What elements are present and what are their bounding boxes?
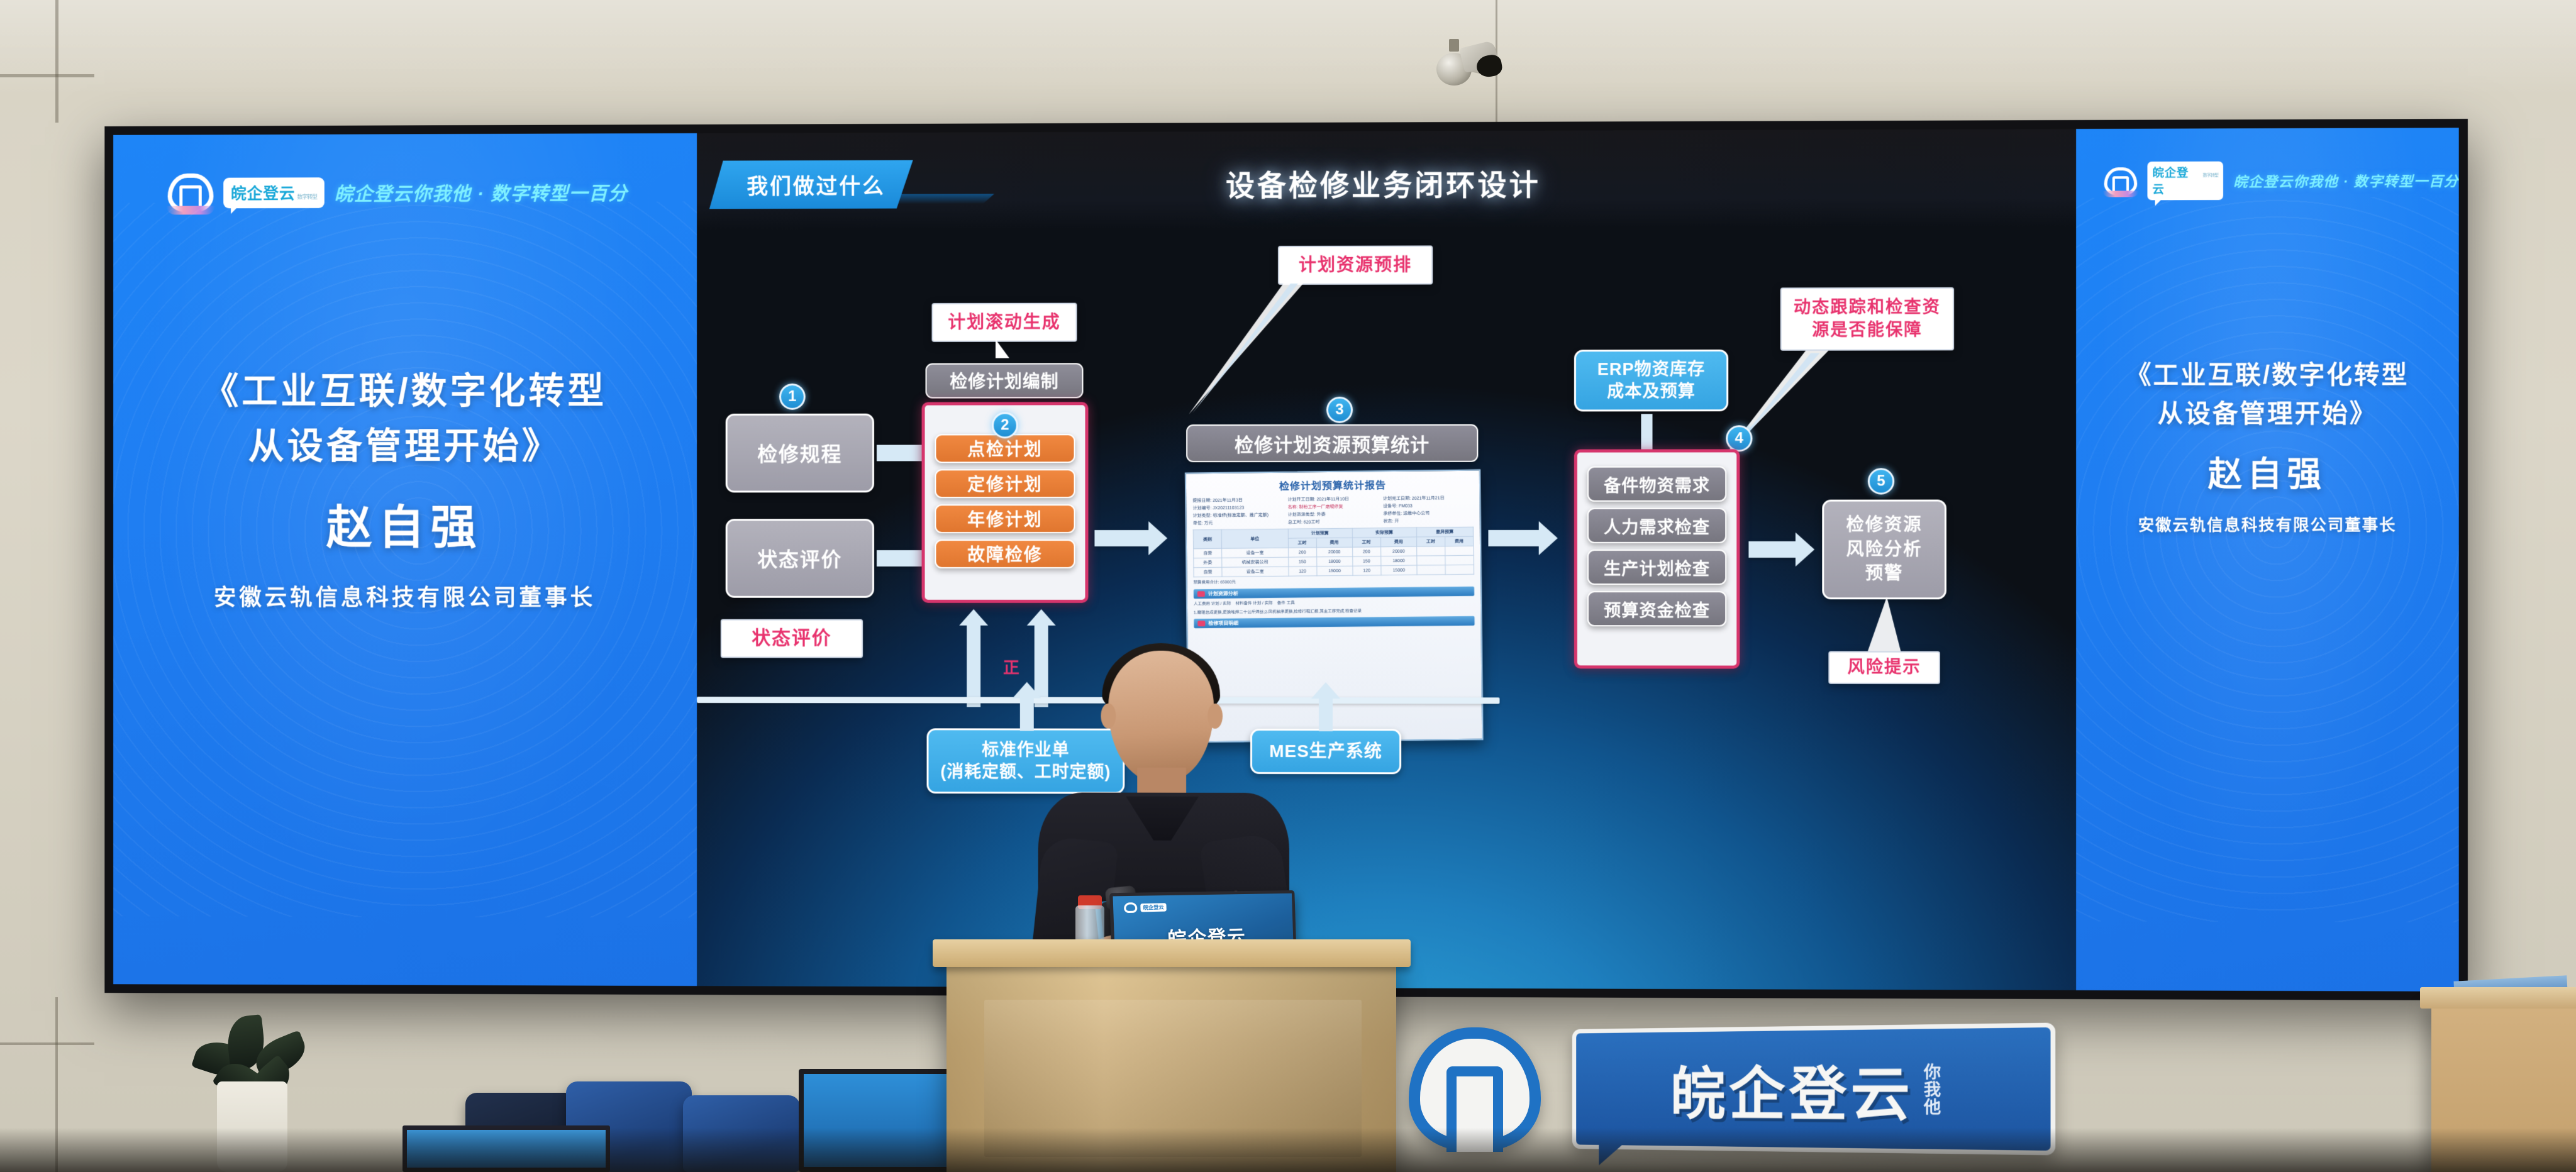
arrow-standard-work-to-plans (967, 626, 980, 707)
side-table-top (2420, 987, 2576, 1009)
wall-tile-seam (0, 74, 94, 77)
cell-value (1445, 565, 1474, 574)
presenter-head (1108, 651, 1214, 782)
step-badge-1: 1 (779, 384, 806, 410)
cell-name: 设备一室 (1222, 548, 1288, 558)
table-row: 自营 设备二室 120 15000 120 15000 (1194, 565, 1474, 577)
speaker-name: 赵自强 (113, 490, 697, 558)
step-badge-2: 2 (992, 412, 1018, 438)
brand-tagline: 皖企登云你我他 · 数字转型一百分 (335, 178, 628, 206)
presentation-slide: 我们做过什么 设备检修业务闭环设计 1 检修规程 状态评价 状态评价 计划滚动生… (697, 129, 2076, 990)
report-meta-item: 计划资源类型: 外委 (1288, 511, 1379, 518)
callout-risk-tip: 风险提示 (1828, 651, 1940, 684)
arrow-checks-to-risk (1748, 541, 1796, 558)
report-total: 预算费用合计: 65000元 (1194, 577, 1474, 586)
cell-name: 机械安装公司 (1222, 557, 1288, 567)
cell-name: 设备二室 (1222, 567, 1288, 577)
presentation-title-line1: 《工业互联/数字化转型 (113, 363, 697, 419)
report-section-2-note: 1.磨辊总成更换,更换堆焊二十公斤焊丝;2.风机轴承更换,检修行程汇报,其主工序… (1194, 607, 1474, 616)
floor-shadow (0, 1128, 2576, 1172)
node-labor-demand-check: 人力需求检查 (1587, 508, 1726, 543)
report-subcol: 工时 (1416, 537, 1445, 546)
node-scheduled-repair-plan: 定修计划 (935, 469, 1075, 498)
cell-value (1445, 546, 1474, 555)
left-title-block: 《工业互联/数字化转型 从设备管理开始》 赵自强 安徽云轨信息科技有限公司董事长 (113, 363, 697, 612)
cloud-logo-icon (168, 174, 214, 213)
callout-state-evaluation: 状态评价 (721, 619, 863, 658)
logo-badge-text: 皖企登云 (231, 181, 295, 204)
arrow-mes-up (1319, 699, 1333, 731)
node-plan-compile: 检修计划编制 (926, 363, 1084, 398)
cell-value: 150 (1288, 557, 1316, 567)
cell-value: 20000 (1316, 547, 1352, 557)
ceiling-security-camera (1423, 39, 1498, 89)
speaker-name: 赵自强 (2076, 446, 2459, 496)
slide-title: 设备检修业务闭环设计 (697, 160, 2076, 206)
node-production-plan-check: 生产计划检查 (1587, 550, 1726, 585)
arrow-report-to-checks (1488, 530, 1538, 546)
report-section-3: 检修项目明细 (1194, 616, 1474, 628)
cell-value: 20000 (1380, 546, 1416, 556)
conference-room-scene: 皖企登云 数字转型 皖企登云你我他 · 数字转型一百分 《工业互联/数字化转型 … (0, 0, 2576, 1172)
led-video-wall: 皖企登云 数字转型 皖企登云你我他 · 数字转型一百分 《工业互联/数字化转型 … (104, 119, 2468, 1000)
callout-dynamic-tracking: 动态跟踪和检查资 源是否能保障 (1780, 287, 1954, 351)
logo-badge-text: 皖企登云 (2153, 164, 2201, 197)
callout-resource-schedule: 计划资源预排 (1278, 245, 1433, 285)
cell-value: 15000 (1381, 565, 1417, 575)
cloud-logo-icon (1124, 902, 1138, 913)
presentation-title-line2: 从设备管理开始》 (2076, 395, 2459, 434)
speaker-organization: 安徽云轨信息科技有限公司董事长 (113, 580, 697, 612)
callout-resource-schedule-leader (1179, 282, 1336, 421)
node-budget-fund-check: 预算资金检查 (1587, 591, 1726, 626)
node-erp-inventory-cost-budget: ERP物资库存 成本及预算 (1574, 350, 1728, 412)
report-meta-item: 单位: 万元 (1193, 519, 1283, 527)
report-subcol: 费用 (1445, 536, 1473, 546)
wall-top-highlight (0, 0, 2576, 94)
node-annual-repair-plan: 年修计划 (935, 504, 1075, 533)
logo-badge-sub: 数字转型 (2203, 174, 2218, 178)
cell-value: 15000 (1317, 566, 1353, 576)
report-meta-item: 承修单位: 运维中心公司 (1383, 510, 1474, 517)
cell-value: 18000 (1316, 556, 1352, 567)
presentation-title-line1: 《工业互联/数字化转型 (2076, 356, 2459, 395)
report-col-name: 单位 (1221, 529, 1288, 548)
brand-tagline: 皖企登云你我他 · 数字转型一百分 (2233, 170, 2459, 191)
presentation-title-line2: 从设备管理开始》 (113, 419, 697, 474)
report-section-3-label: 检修项目明细 (1208, 620, 1238, 627)
report-meta-item: 计划开工日期: 2021年11月10日 (1287, 495, 1378, 503)
presenter-ear-left (1101, 704, 1116, 729)
report-section-2: 计划资源分析 (1194, 586, 1474, 599)
node-budget-statistics: 检修计划资源预算统计 (1186, 424, 1478, 462)
step-badge-3: 3 (1326, 397, 1353, 423)
camera-mount (1449, 39, 1459, 52)
report-meta-item: 计划完工日期: 2021年11月21日 (1383, 495, 1474, 502)
arrow-plans-to-report (1094, 530, 1148, 546)
cell-value (1445, 555, 1474, 565)
cell-value: 18000 (1381, 556, 1417, 566)
report-subcol: 工时 (1288, 538, 1316, 548)
report-meta-item: 状态: 开 (1383, 517, 1474, 525)
report-meta-item: 提报日期: 2021年11月3日 (1192, 497, 1282, 504)
report-section-2-body: 人工费用 计划 / 实际 材料备件 计划 / 实际 备件 工具 (1194, 599, 1474, 607)
node-inspection-rules: 检修规程 (726, 414, 874, 493)
report-meta-grid: 提报日期: 2021年11月3日 计划开工日期: 2021年11月10日 计划完… (1192, 495, 1474, 527)
event-name-subtext: 你我他 (1922, 1063, 1940, 1115)
checks-group-card: 备件物资需求 人力需求检查 生产计划检查 预算资金检查 (1574, 449, 1740, 668)
report-meta-item: 名称: 制粉工序一厂磨辊修复 (1288, 503, 1379, 511)
cell-value: 200 (1288, 548, 1316, 557)
callout-risk-tip-leader (1843, 597, 1938, 655)
node-spare-parts-demand: 备件物资需求 (1587, 467, 1726, 502)
report-colgroup-2: 实际预算 (1352, 528, 1416, 538)
report-section-2-label: 计划资源分析 (1208, 590, 1238, 597)
logo-badge: 皖企登云 数字转型 (2147, 162, 2223, 201)
left-title-panel: 皖企登云 数字转型 皖企登云你我他 · 数字转型一百分 《工业互联/数字化转型 … (113, 133, 697, 986)
report-meta-item: 设备号: FM033 (1383, 502, 1474, 510)
cell-value: 120 (1288, 567, 1316, 576)
wall-tile-seam (0, 1042, 94, 1045)
right-title-panel: 皖企登云 数字转型 皖企登云你我他 · 数字转型一百分 《工业互联/数字化转型 … (2076, 128, 2459, 992)
cell-value (1416, 546, 1445, 556)
node-repair-resource-risk-alert: 检修资源 风险分析 预警 (1822, 500, 1946, 600)
step-badge-5: 5 (1868, 468, 1894, 494)
cell-value (1417, 565, 1445, 575)
node-status-evaluation: 状态评价 (726, 519, 874, 598)
laptop-logo-text: 皖企登云 (1140, 903, 1167, 912)
wall-tile-seam (55, 0, 58, 123)
brand-row-left: 皖企登云 数字转型 皖企登云你我他 · 数字转型一百分 (168, 172, 628, 213)
laptop-logo: 皖企登云 (1124, 902, 1167, 913)
cell-type: 自营 (1194, 548, 1222, 558)
report-subcol: 费用 (1380, 537, 1416, 547)
cell-type: 自营 (1194, 567, 1222, 577)
report-meta-item: 总工时: 620工时 (1288, 518, 1379, 526)
brand-row-right: 皖企登云 数字转型 皖企登云你我他 · 数字转型一百分 (2104, 161, 2459, 201)
cell-value: 120 (1352, 566, 1380, 575)
report-colgroup-3: 差异预算 (1416, 527, 1474, 537)
cell-type: 外委 (1194, 558, 1222, 567)
report-subcol: 费用 (1316, 538, 1352, 548)
cell-value: 200 (1352, 547, 1380, 556)
event-name-text: 皖企登云 (1670, 1046, 1914, 1132)
logo-badge-sub: 数字转型 (297, 194, 317, 200)
report-table: 类别 单位 计划预算 实际预算 差异预算 工时 费用 工时 费用 工时 费用 (1193, 527, 1474, 578)
cloud-logo-icon (2104, 167, 2138, 195)
cell-value (1416, 556, 1445, 565)
report-meta-item: 计划编号: JX20211103123 (1192, 504, 1282, 512)
step-badge-4: 4 (1726, 425, 1752, 451)
report-col-type: 类别 (1193, 529, 1221, 548)
report-meta-item: 计划类型: 标准修(标准定额、推广定额) (1193, 512, 1283, 519)
report-colgroup-1: 计划预算 (1288, 528, 1352, 538)
report-title: 检修计划预算统计报告 (1192, 475, 1474, 494)
presenter-ear-right (1207, 704, 1223, 729)
report-subcol: 工时 (1352, 538, 1380, 547)
right-title-block: 《工业互联/数字化转型 从设备管理开始》 赵自强 安徽云轨信息科技有限公司董事长 (2076, 356, 2459, 535)
callout-plan-roll-tail (996, 340, 1016, 358)
callout-plan-rolling-generation: 计划滚动生成 (931, 303, 1077, 342)
cell-value: 150 (1352, 556, 1380, 566)
logo-badge: 皖企登云 数字转型 (223, 177, 325, 208)
node-fault-repair: 故障检修 (935, 539, 1075, 568)
speaker-organization: 安徽云轨信息科技有限公司董事长 (2076, 512, 2459, 535)
arrow-erp-to-checks (1641, 414, 1652, 449)
podium-top-surface (933, 939, 1411, 967)
